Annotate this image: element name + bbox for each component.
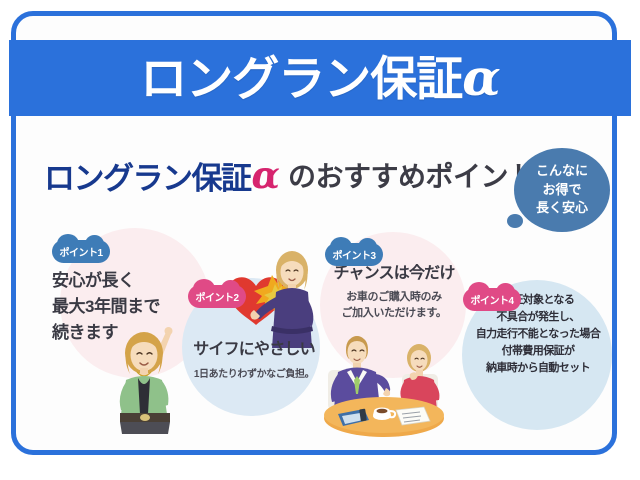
- point-2-text: サイフにやさしい 1日あたりわずかなご負担。: [178, 340, 330, 380]
- point-4-line-3: 自力走行不能となった場合: [462, 326, 614, 343]
- poster-root: ロングラン保証α ロングラン保証 α のおすすめポイント こんなに お得で 長く…: [0, 0, 640, 480]
- point-3-subtext-line-1: お車のご購入時のみ: [318, 289, 470, 306]
- point-2-badge: ポイント2: [188, 285, 246, 308]
- point-1-line-2: 最大3年間まで: [52, 294, 202, 320]
- point-2-heading: サイフにやさしい: [178, 340, 330, 361]
- bubble-line-3: 長く安心: [536, 199, 588, 218]
- point-1-badge: ポイント1: [52, 240, 110, 263]
- header-band: ロングラン保証α: [9, 40, 631, 116]
- bubble-line-1: こんなに: [536, 162, 588, 181]
- point-3-subtext-line-2: ご加入いただけます。: [318, 305, 470, 322]
- point-1-line-1: 安心が長く: [52, 268, 202, 294]
- subtitle-brand: ロングラン保証: [44, 153, 251, 198]
- point-1-badge-label: ポイント1: [59, 244, 102, 259]
- point-2-badge-label: ポイント2: [195, 289, 238, 304]
- page-title-alpha: α: [462, 48, 499, 107]
- page-title: ロングラン保証α: [140, 53, 499, 103]
- point-3-heading: チャンスは今だけ: [318, 264, 470, 285]
- point-1-text: 安心が長く 最大3年間まで 続きます: [52, 268, 202, 345]
- point-4-line-5: 納車時から自動セット: [462, 360, 614, 377]
- bubble-line-2: お得で: [542, 181, 581, 200]
- point-4-line-4: 付帯費用保証が: [462, 343, 614, 360]
- page-title-main: ロングラン保証: [140, 52, 462, 105]
- point-3-text: チャンスは今だけ お車のご購入時のみ ご加入いただけます。: [318, 264, 470, 322]
- point-4-line-2: 不具合が発生し、: [462, 309, 614, 326]
- subtitle-alpha: α: [252, 153, 280, 197]
- point-2-subtext: 1日あたりわずかなご負担。: [178, 365, 330, 380]
- highlight-speech-bubble: こんなに お得で 長く安心: [514, 148, 610, 232]
- subtitle: ロングラン保証 α のおすすめポイント: [44, 152, 514, 198]
- point-4-badge: ポイント4: [463, 288, 521, 311]
- subtitle-rest: のおすすめポイント: [288, 155, 536, 195]
- point-3-badge: ポイント3: [325, 243, 383, 266]
- couple-at-table-icon: [316, 330, 452, 438]
- point-3-badge-label: ポイント3: [332, 247, 375, 262]
- point-4-badge-label: ポイント4: [470, 292, 513, 307]
